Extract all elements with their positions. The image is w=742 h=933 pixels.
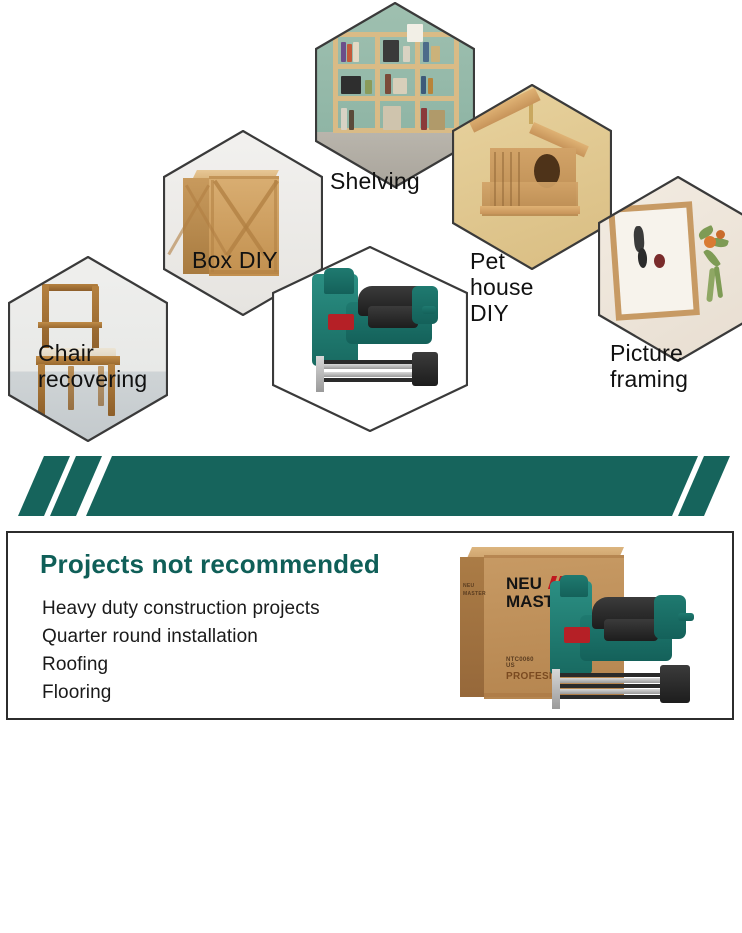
hex-tile-nail-gun-product[interactable] [272, 246, 468, 432]
nail-gun-product [536, 569, 726, 719]
banner-shape [0, 440, 742, 528]
picture-frame-photo [598, 176, 742, 362]
hex-label-pet-house-diy: Pet house DIY [470, 248, 534, 326]
diy-projects-hex-collage: Chair recovering Box DIY [0, 0, 742, 440]
section-banner: Widely Used In DIY Projects [0, 440, 742, 528]
list-item: Heavy duty construction projects [42, 595, 320, 623]
list-item: Quarter round installation [42, 623, 320, 651]
hex-label-picture-framing: Picture framing [610, 340, 688, 392]
hex-tile-pet-house-diy[interactable] [452, 84, 612, 270]
product-box-photo: NEU MASTER NEU MASTER NTC0060 US PROFESI [444, 539, 724, 717]
banner-title: Widely Used In DIY Projects [0, 902, 742, 933]
hex-label-shelving: Shelving [330, 168, 420, 194]
list-item: Roofing [42, 651, 320, 679]
hex-tile-picture-framing[interactable] [598, 176, 742, 362]
product-model-text: NTC0060 US [506, 657, 534, 669]
hex-label-box-diy: Box DIY [192, 247, 278, 273]
projects-not-recommended-panel: Projects not recommended Heavy duty cons… [6, 531, 734, 720]
not-recommended-list: Heavy duty construction projects Quarter… [42, 595, 320, 707]
list-item: Flooring [42, 679, 320, 707]
nail-gun-photo [272, 246, 468, 432]
shelving-photo [315, 2, 475, 188]
birdhouse-photo [452, 84, 612, 270]
hex-label-chair-recovering: Chair recovering [38, 340, 147, 392]
hex-tile-shelving[interactable] [315, 2, 475, 188]
panel-title: Projects not recommended [40, 549, 380, 580]
